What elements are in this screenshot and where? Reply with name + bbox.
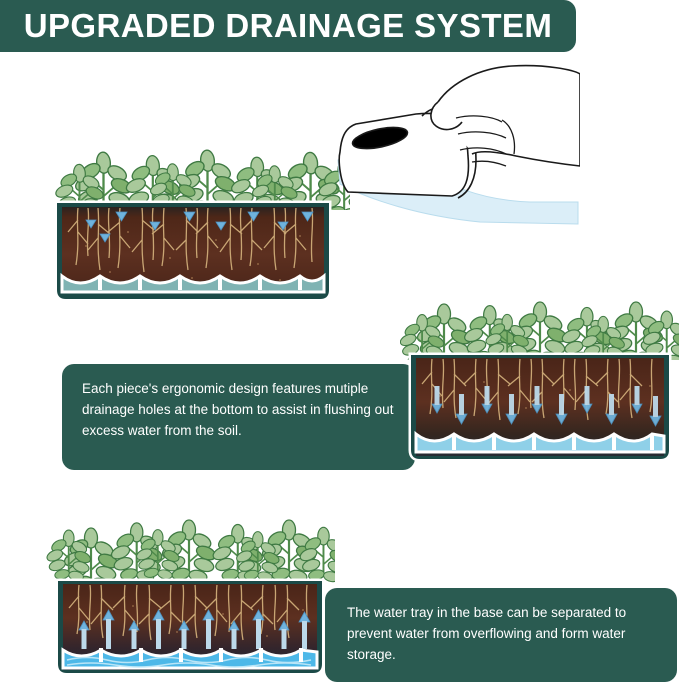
planter-cross-section-watering xyxy=(50,140,350,320)
planter-cross-section-wicking xyxy=(45,506,335,691)
page-title: UPGRADED DRAINAGE SYSTEM xyxy=(24,7,552,45)
water-tray-caption: The water tray in the base can be separa… xyxy=(325,588,677,682)
hand-holding-watering-can xyxy=(330,60,580,250)
water-tray-caption-text: The water tray in the base can be separa… xyxy=(347,602,661,665)
finger-line-4 xyxy=(472,161,506,166)
page-title-banner: UPGRADED DRAINAGE SYSTEM xyxy=(0,0,576,52)
infographic-page: UPGRADED DRAINAGE SYSTEM Each piece's er… xyxy=(0,0,679,691)
drainage-holes-caption: Each piece's ergonomic design features m… xyxy=(62,364,415,470)
planter-cross-section-draining xyxy=(400,296,679,481)
drainage-holes-caption-text: Each piece's ergonomic design features m… xyxy=(82,378,399,441)
